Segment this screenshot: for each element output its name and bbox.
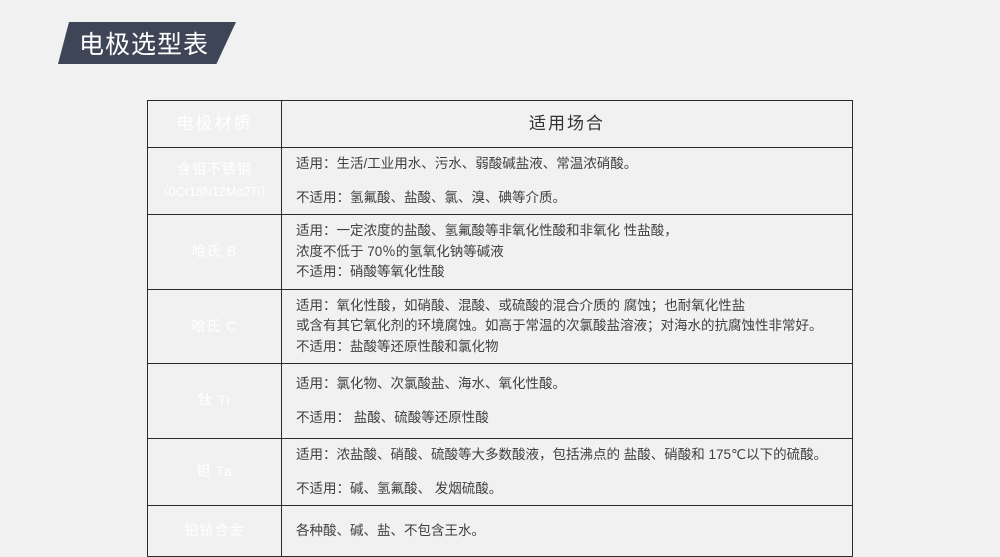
material-name: 含钼不锈钢 (150, 159, 279, 181)
material-code: （0Cr18N12Mo2Ti） (150, 183, 279, 202)
usage-cell-tantalum: 适用：浓盐酸、硝酸、硫酸等大多数酸液，包括沸点的 盐酸、硝酸和 175℃以下的硫… (282, 439, 853, 506)
material-name: 钛 Ti (150, 390, 279, 412)
usage-line: 适用：生活/工业用水、污水、弱酸碱盐液、常温浓硝酸。 (296, 154, 842, 175)
material-name: 哈氏 C (150, 316, 279, 338)
material-cell-tantalum: 钽 Ta (148, 439, 282, 506)
table-row: 钛 Ti 适用：氯化物、次氯酸盐、海水、氧化性酸。 不适用： 盐酸、硫酸等还原性… (148, 364, 853, 439)
material-cell-platinum-iridium: 铂铱合金 (148, 506, 282, 557)
usage-cell-hastelloy-b: 适用：一定浓度的盐酸、氢氟酸等非氧化性酸和非氧化 性盐酸， 浓度不低于 70％的… (282, 215, 853, 290)
usage-line: 适用：氯化物、次氯酸盐、海水、氧化性酸。 (296, 374, 842, 395)
usage-cell-platinum-iridium: 各种酸、碱、盐、不包含王水。 (282, 506, 853, 557)
header-cell-material: 电极材质 (148, 101, 282, 148)
page-title-banner: 电极选型表 (58, 22, 236, 64)
usage-line: 不适用：硝酸等氧化性酸 (296, 262, 842, 283)
material-cell-hastelloy-c: 哈氏 C (148, 289, 282, 364)
usage-line: 各种酸、碱、盐、不包含王水。 (296, 521, 842, 542)
table-row: 含钼不锈钢 （0Cr18N12Mo2Ti） 适用：生活/工业用水、污水、弱酸碱盐… (148, 148, 853, 215)
usage-cell-titanium: 适用：氯化物、次氯酸盐、海水、氧化性酸。 不适用： 盐酸、硫酸等还原性酸 (282, 364, 853, 439)
usage-line: 不适用： 盐酸、硫酸等还原性酸 (296, 408, 842, 429)
usage-cell-stainless-steel: 适用：生活/工业用水、污水、弱酸碱盐液、常温浓硝酸。 不适用：氢氟酸、盐酸、氯、… (282, 148, 853, 215)
usage-line: 不适用：碱、氢氟酸、 发烟硫酸。 (296, 479, 842, 500)
usage-line: 不适用：盐酸等还原性酸和氯化物 (296, 337, 842, 358)
electrode-selection-table-wrapper: 电极材质 适用场合 含钼不锈钢 （0Cr18N12Mo2Ti） 适用：生活/工业… (147, 100, 852, 557)
material-name: 钽 Ta (150, 461, 279, 483)
usage-line: 或含有其它氧化剂的环境腐蚀。如高于常温的次氯酸盐溶液；对海水的抗腐蚀性非常好。 (296, 316, 842, 337)
electrode-selection-table: 电极材质 适用场合 含钼不锈钢 （0Cr18N12Mo2Ti） 适用：生活/工业… (147, 100, 853, 557)
usage-line: 适用：一定浓度的盐酸、氢氟酸等非氧化性酸和非氧化 性盐酸， (296, 221, 842, 242)
usage-cell-hastelloy-c: 适用：氧化性酸，如硝酸、混酸、或硫酸的混合介质的 腐蚀；也耐氧化性盐 或含有其它… (282, 289, 853, 364)
table-row: 哈氏 B 适用：一定浓度的盐酸、氢氟酸等非氧化性酸和非氧化 性盐酸， 浓度不低于… (148, 215, 853, 290)
material-name: 哈氏 B (150, 241, 279, 263)
usage-line: 浓度不低于 70％的氢氧化钠等碱液 (296, 242, 842, 263)
material-cell-stainless-steel: 含钼不锈钢 （0Cr18N12Mo2Ti） (148, 148, 282, 215)
table-row: 铂铱合金 各种酸、碱、盐、不包含王水。 (148, 506, 853, 557)
usage-line: 不适用：氢氟酸、盐酸、氯、溴、碘等介质。 (296, 188, 842, 209)
page-title: 电极选型表 (58, 22, 236, 64)
material-cell-titanium: 钛 Ti (148, 364, 282, 439)
table-header-row: 电极材质 适用场合 (148, 101, 853, 148)
table-row: 哈氏 C 适用：氧化性酸，如硝酸、混酸、或硫酸的混合介质的 腐蚀；也耐氧化性盐 … (148, 289, 853, 364)
usage-line: 适用：氧化性酸，如硝酸、混酸、或硫酸的混合介质的 腐蚀；也耐氧化性盐 (296, 296, 842, 317)
material-cell-hastelloy-b: 哈氏 B (148, 215, 282, 290)
header-cell-usage: 适用场合 (282, 101, 853, 148)
material-name: 铂铱合金 (150, 520, 279, 542)
table-row: 钽 Ta 适用：浓盐酸、硝酸、硫酸等大多数酸液，包括沸点的 盐酸、硝酸和 175… (148, 439, 853, 506)
usage-line: 适用：浓盐酸、硝酸、硫酸等大多数酸液，包括沸点的 盐酸、硝酸和 175℃以下的硫… (296, 445, 842, 466)
